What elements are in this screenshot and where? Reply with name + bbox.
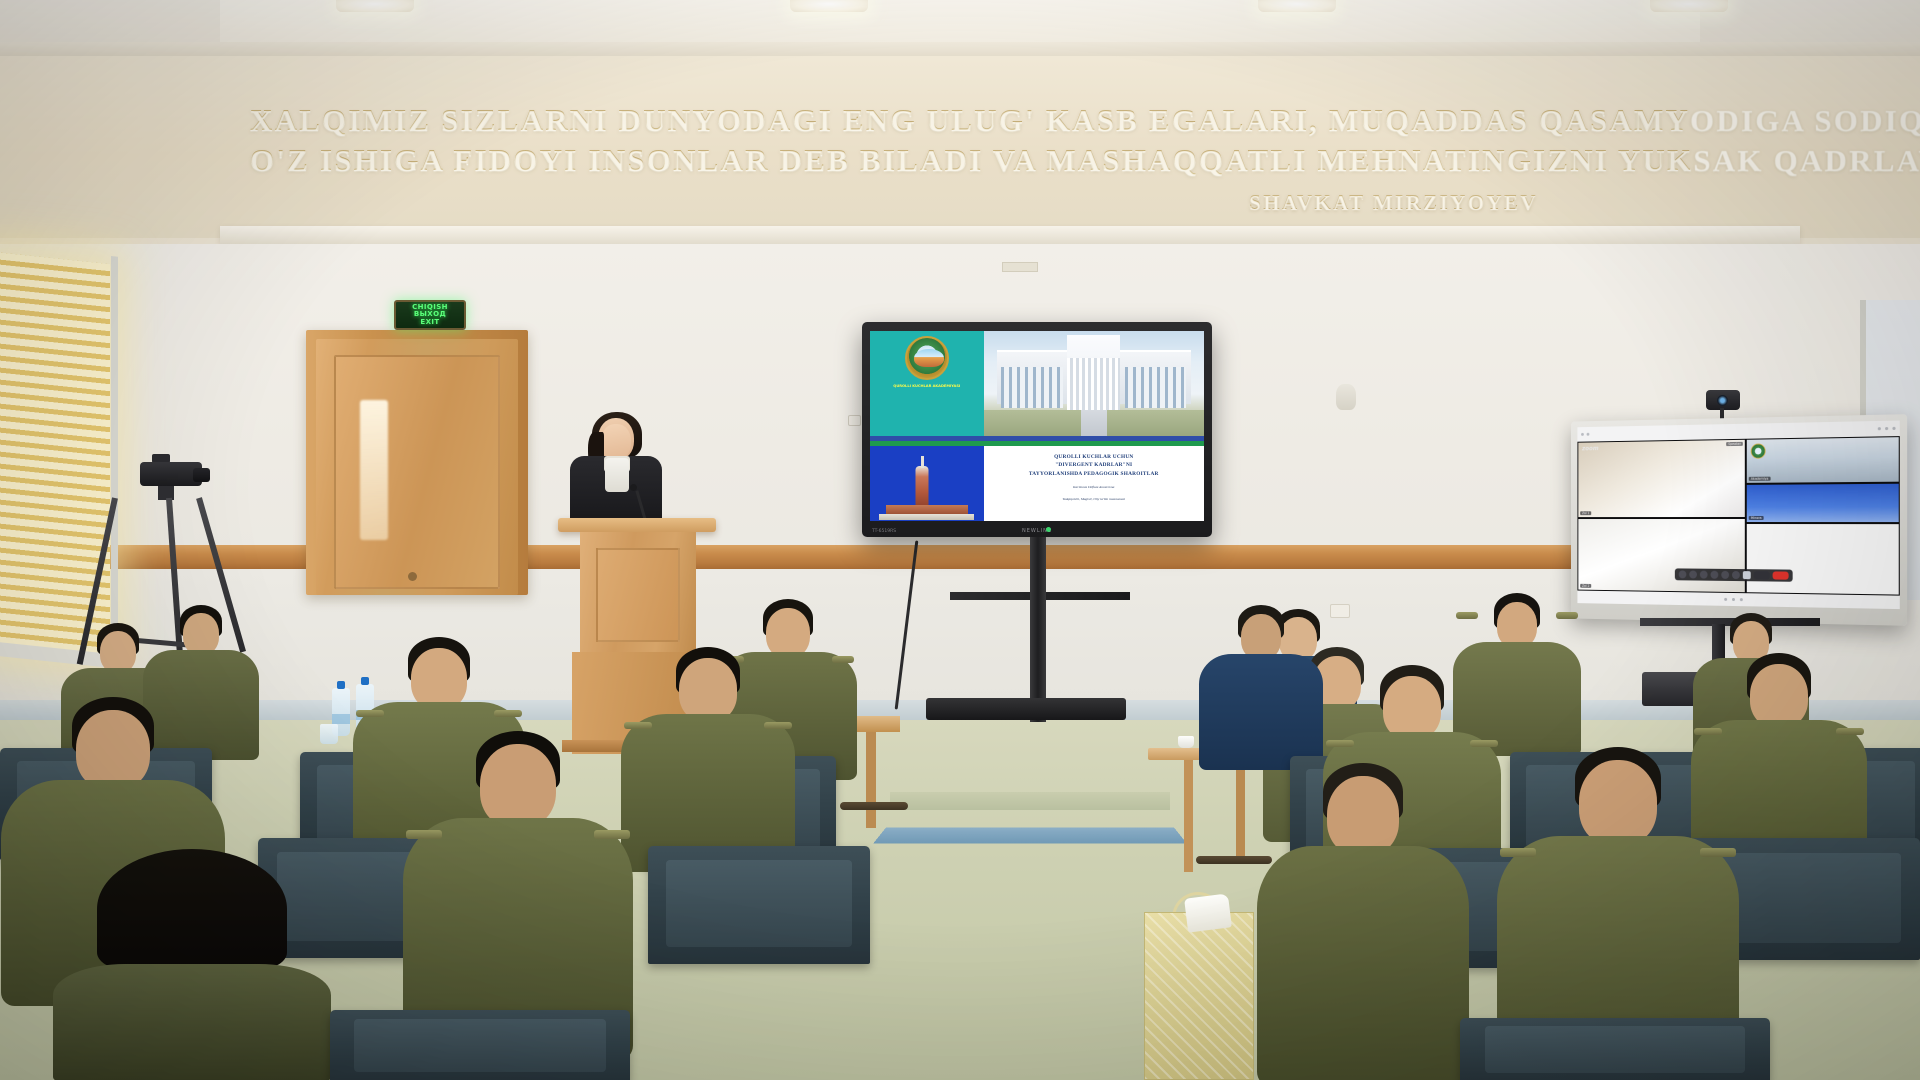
video-camera-icon[interactable]: [1689, 570, 1697, 578]
person-head: [411, 648, 467, 710]
shoulder-board-icon: [406, 830, 442, 839]
participants-icon[interactable]: [1700, 570, 1708, 578]
door-light-reflection: [360, 400, 388, 540]
chair-armrest: [1196, 856, 1272, 864]
podium-top: [558, 518, 716, 532]
person-head: [1383, 676, 1441, 740]
microphone-icon[interactable]: [1679, 570, 1687, 578]
slide-title-line-1: QUROLLI KUCHLAR UCHUN: [990, 453, 1198, 461]
building-windows-right: [1125, 367, 1187, 409]
door-panel: [334, 355, 500, 589]
zoom-tile[interactable]: Zal 2: [1577, 518, 1745, 594]
slide-building-photo: [984, 331, 1204, 436]
shoulder-board-icon: [1500, 848, 1536, 857]
window-dot-icon: [1581, 433, 1584, 436]
wall-speaker-icon: [1336, 384, 1356, 410]
building-windows-left: [1001, 367, 1063, 409]
status-dot-icon: [1724, 598, 1727, 601]
building-columns: [1067, 358, 1120, 412]
wall-quote-line-2: O'Z ISHIGA FIDOYI INSONLAR DEB BILADI VA…: [250, 140, 1690, 180]
gift-bag-tissue: [1184, 893, 1232, 932]
exit-sign-line-3: EXIT: [420, 319, 439, 326]
window-controls[interactable]: [1878, 427, 1896, 430]
wall-quote: XALQIMIZ SIZLARNI DUNYODAGI ENG ULUG' KA…: [250, 100, 1690, 216]
person-head: [480, 744, 556, 828]
reactions-icon[interactable]: [1721, 570, 1729, 578]
zoom-window: zoom Speaker Zal 1 Zal 2 Akademiya Minor…: [1577, 421, 1899, 610]
zoom-logo-icon: zoom: [1582, 445, 1599, 452]
zoom-tile-label: Akademiya: [1749, 477, 1771, 481]
wall-plug: [848, 415, 861, 426]
floor-blue-strip: [873, 827, 1186, 843]
wall-cornice: [220, 226, 1800, 244]
building-walkway: [1081, 410, 1107, 435]
end-meeting-button[interactable]: [1773, 571, 1789, 579]
share-screen-icon[interactable]: [1743, 571, 1751, 579]
auditorium-chair[interactable]: [330, 1010, 630, 1080]
shoulder-board-icon: [1836, 728, 1864, 735]
slide-title-line-3: TAYYORLANISHDA PEDAGOGIK SHAROITLAR: [990, 470, 1198, 478]
shoulder-board-icon: [1456, 612, 1478, 619]
shoulder-board-icon: [764, 722, 792, 729]
power-indicator-icon: [1046, 527, 1051, 532]
wall-notice-plate: [1002, 262, 1038, 272]
door-frame: [306, 330, 528, 595]
shoulder-board-icon: [832, 656, 854, 663]
chair-armrest: [840, 802, 908, 810]
shoulder-board-icon: [624, 722, 652, 729]
podium-front-panel: [596, 548, 680, 642]
person-torso: [53, 964, 331, 1080]
person-head: [183, 613, 219, 655]
coffee-cup[interactable]: [1178, 736, 1194, 748]
interactive-flat-panel[interactable]: QUROLLI KUCHLAR AKADEMIYASI: [862, 322, 1212, 537]
academy-emblem-icon: [1751, 443, 1766, 458]
audience-person: [620, 650, 796, 870]
person-head: [1579, 760, 1657, 846]
drinking-glass[interactable]: [320, 724, 338, 744]
zoom-tile-label: Minora: [1749, 516, 1764, 520]
ceiling-light: [790, 0, 868, 12]
audience-person: [402, 734, 634, 1054]
auditorium-chair[interactable]: [1460, 1018, 1770, 1080]
academy-emblem-icon: [905, 336, 949, 380]
zoom-tile[interactable]: Akademiya: [1746, 436, 1900, 485]
minimize-icon[interactable]: [1878, 427, 1881, 430]
gift-bag[interactable]: [1144, 912, 1254, 1080]
close-icon[interactable]: [1892, 427, 1895, 430]
slide-author-line-2: Tadqiqotchi, Magistr, Oliy ta'lim muassa…: [990, 497, 1198, 502]
shoulder-board-icon: [1694, 728, 1722, 735]
side-table-leg: [1236, 760, 1245, 860]
shoulder-board-icon: [594, 830, 630, 839]
door-leaf[interactable]: [316, 339, 518, 595]
status-dot-icon: [1732, 598, 1735, 601]
shoulder-board-icon: [1470, 740, 1498, 747]
monument-plinth: [879, 514, 974, 519]
person-head: [1750, 664, 1808, 728]
shoulder-board-icon: [356, 710, 384, 717]
ceiling-light: [336, 0, 414, 12]
shoulder-board-icon: [1700, 848, 1736, 857]
audience-person: [1256, 766, 1470, 1080]
chat-icon[interactable]: [1711, 570, 1719, 578]
audience-person: [1198, 608, 1324, 768]
more-options-button[interactable]: [1754, 571, 1770, 579]
status-dot-icon: [1739, 598, 1742, 601]
wall-quote-signature: SHAVKAT MIRZIYOYEV: [250, 189, 1690, 216]
person-head: [1327, 776, 1399, 856]
ptz-camera-icon: [1706, 390, 1740, 410]
zoom-toolbar[interactable]: [1675, 568, 1793, 581]
person-hair: [97, 849, 287, 969]
exit-sign: CHIQISH ВЫХОД EXIT: [394, 300, 466, 330]
person-head: [100, 631, 136, 673]
slide-emblem-caption: QUROLLI KUCHLAR AKADEMIYASI: [890, 384, 963, 389]
video-conference-display[interactable]: zoom Speaker Zal 1 Zal 2 Akademiya Minor…: [1571, 414, 1907, 626]
zoom-tile-empty[interactable]: [1746, 523, 1900, 596]
conference-hall-scene: XALQIMIZ SIZLARNI DUNYODAGI ENG ULUG' KA…: [0, 0, 1920, 1080]
slide-title-line-2: "DIVERGENT KADRLAR"NI: [990, 461, 1198, 469]
zoom-tile-label: Zal 2: [1580, 584, 1591, 588]
window-dot-icon: [1587, 433, 1590, 436]
shoulder-board-icon: [1326, 740, 1354, 747]
maximize-icon[interactable]: [1885, 427, 1888, 430]
floor-step: [890, 792, 1170, 810]
wall-quote-line-1: XALQIMIZ SIZLARNI DUNYODAGI ENG ULUG' KA…: [250, 100, 1690, 140]
slide-bottom-row: QUROLLI KUCHLAR UCHUN "DIVERGENT KADRLAR…: [870, 446, 1204, 521]
speaker-face: [601, 424, 631, 460]
side-desk-leg: [866, 732, 876, 828]
zoom-tile-badge: Speaker: [1726, 441, 1743, 445]
auditorium-chair[interactable]: [648, 846, 870, 964]
microphone-icon: [630, 484, 637, 491]
slide-top-row: QUROLLI KUCHLAR AKADEMIYASI: [870, 331, 1204, 436]
shoulder-board-icon: [494, 710, 522, 717]
person-head: [76, 710, 150, 790]
side-table-leg: [1184, 760, 1193, 872]
audience-person-foreground: [52, 852, 332, 1080]
camera-lens-icon: [193, 468, 210, 482]
slide-author-line-1: Karimova Dilfuza Anvarovna: [990, 485, 1198, 490]
zoom-tile-label: Zal 1: [1580, 511, 1591, 515]
display-model-badge: TT-6519RS: [872, 529, 896, 534]
slide-emblem-column: QUROLLI KUCHLAR AKADEMIYASI: [870, 331, 984, 436]
display-stand-base: [926, 698, 1126, 720]
speaker-shirt: [605, 458, 629, 492]
presentation-slide: QUROLLI KUCHLAR AKADEMIYASI: [870, 331, 1204, 521]
slide-text-column: QUROLLI KUCHLAR UCHUN "DIVERGENT KADRLAR…: [984, 446, 1204, 521]
ceiling-light: [1650, 0, 1728, 12]
record-icon[interactable]: [1732, 571, 1740, 579]
monument-icon: [916, 466, 929, 509]
person-head: [679, 658, 737, 722]
display-stand-post: [1030, 537, 1046, 722]
slide-monument-column: [870, 446, 984, 521]
shoulder-board-icon: [1556, 612, 1578, 619]
zoom-tile[interactable]: Minora: [1746, 483, 1900, 523]
window-frame-left: [0, 243, 118, 676]
zoom-tile[interactable]: zoom Speaker Zal 1: [1577, 438, 1745, 518]
ceiling-light: [1258, 0, 1336, 12]
person-torso: [1199, 654, 1323, 770]
person-torso: [1257, 846, 1469, 1080]
door-handle[interactable]: [408, 572, 417, 581]
